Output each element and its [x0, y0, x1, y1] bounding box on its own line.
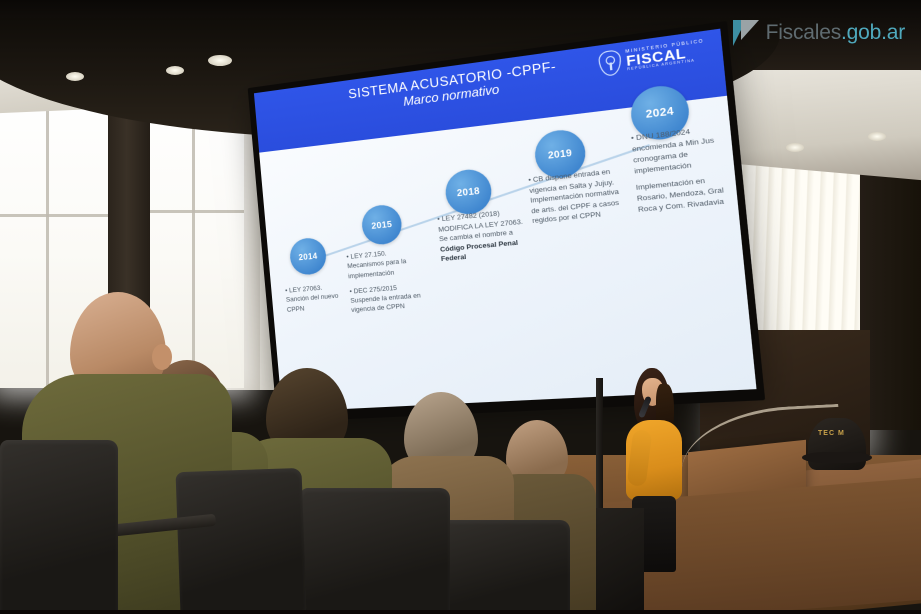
- paragraph: Implementación en Rosario, Mendoza, Gral…: [635, 174, 730, 216]
- watermark-brand: Fiscales: [766, 21, 841, 44]
- downlight-icon: [166, 66, 184, 75]
- timeline-text-2019: • CB dispone entrada en vigencia en Salt…: [528, 166, 623, 233]
- downlight-icon: [66, 72, 84, 81]
- downlight-icon: [786, 143, 804, 152]
- bullet: • DEC 275/2015 Suspende la entrada en vi…: [349, 281, 428, 316]
- arrow-logo-icon: [733, 20, 759, 46]
- floor-speaker-box: [596, 508, 644, 614]
- timeline-text-2018: • LEY 27482 (2018) MODIFICA LA LEY 27063…: [437, 207, 527, 272]
- cap-brim: [802, 452, 872, 463]
- photo-scene: SISTEMA ACUSATORIO -CPPF- Marco normativ…: [0, 0, 921, 614]
- timeline-year-2018: 2018: [444, 167, 494, 216]
- bottom-edge: [0, 610, 921, 614]
- auditorium-chair-foreground: [0, 440, 118, 614]
- auditorium-chair: [430, 520, 570, 614]
- downlight-icon: [208, 55, 232, 66]
- ear: [152, 344, 172, 370]
- cap-label: TEC M: [818, 430, 845, 437]
- watermark-domain: .gob.ar: [841, 21, 905, 44]
- auditorium-chair: [176, 468, 307, 614]
- bullet: • LEY 27063. Sanción del nuevo CPPN: [285, 282, 341, 314]
- watermark-text: Fiscales.gob.ar: [766, 21, 905, 45]
- bullet: • LEY 27482 (2018) MODIFICA LA LEY 27063…: [437, 207, 527, 265]
- site-watermark: Fiscales.gob.ar: [733, 20, 905, 46]
- downlight-icon: [868, 132, 886, 141]
- timeline-text-2014: • LEY 27063. Sanción del nuevo CPPN: [285, 282, 342, 320]
- timeline-text-2015: • LEY 27.150. Mecanismos para la impleme…: [346, 246, 429, 322]
- presentation-slide: SISTEMA ACUSATORIO -CPPF- Marco normativ…: [254, 29, 757, 412]
- bullet: • CB dispone entrada en vigencia en Salt…: [528, 166, 622, 227]
- bullet: • DNU 188/2024 encomienda a Min Jus cron…: [631, 123, 727, 177]
- timeline-year-2014: 2014: [289, 237, 328, 277]
- argentina-shield-icon: [598, 49, 623, 77]
- bullet: • LEY 27.150. Mecanismos para la impleme…: [346, 246, 425, 281]
- projection-screen: SISTEMA ACUSATORIO -CPPF- Marco normativ…: [254, 29, 757, 412]
- auditorium-chair: [300, 488, 450, 614]
- timeline-text-2024: • DNU 188/2024 encomienda a Min Jus cron…: [631, 123, 732, 222]
